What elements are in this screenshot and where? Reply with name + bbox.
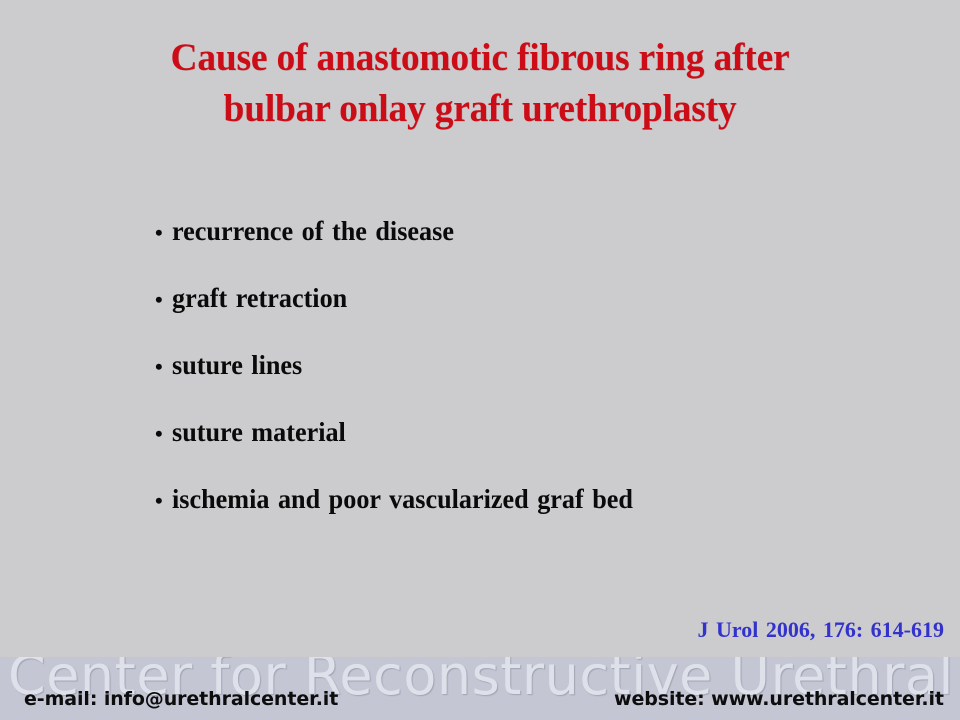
bullet-point-icon: • xyxy=(155,216,163,250)
bullet-point-icon: • xyxy=(155,350,163,384)
slide-canvas: Cause of anastomotic fibrous ring after … xyxy=(0,0,960,720)
footer-email-text: e-mail: info@urethralcenter.it xyxy=(24,687,338,711)
journal-citation: J Urol 2006, 176: 614-619 xyxy=(697,617,944,643)
list-item: • ischemia and poor vascularized graf be… xyxy=(155,482,915,549)
list-item-label: ischemia and poor vascularized graf bed xyxy=(172,482,633,516)
bullet-list: • recurrence of the disease • graft retr… xyxy=(155,214,915,549)
slide-title-line-2: bulbar onlay graft urethroplasty xyxy=(19,83,941,134)
list-item-label: suture lines xyxy=(172,348,302,382)
bullet-point-icon: • xyxy=(155,484,163,518)
bullet-point-icon: • xyxy=(155,283,163,317)
list-item-label: suture material xyxy=(172,415,346,449)
list-item: • suture material xyxy=(155,415,915,482)
footer-band: Center for Reconstructive Urethral Surge… xyxy=(0,657,960,720)
list-item-label: recurrence of the disease xyxy=(172,214,454,248)
slide-title: Cause of anastomotic fibrous ring after … xyxy=(19,32,941,134)
bullet-point-icon: • xyxy=(155,417,163,451)
footer-website-text: website: www.urethralcenter.it xyxy=(614,687,944,711)
slide-title-line-1: Cause of anastomotic fibrous ring after xyxy=(19,32,941,83)
list-item-label: graft retraction xyxy=(172,281,347,315)
list-item: • suture lines xyxy=(155,348,915,415)
list-item: • recurrence of the disease xyxy=(155,214,915,281)
list-item: • graft retraction xyxy=(155,281,915,348)
